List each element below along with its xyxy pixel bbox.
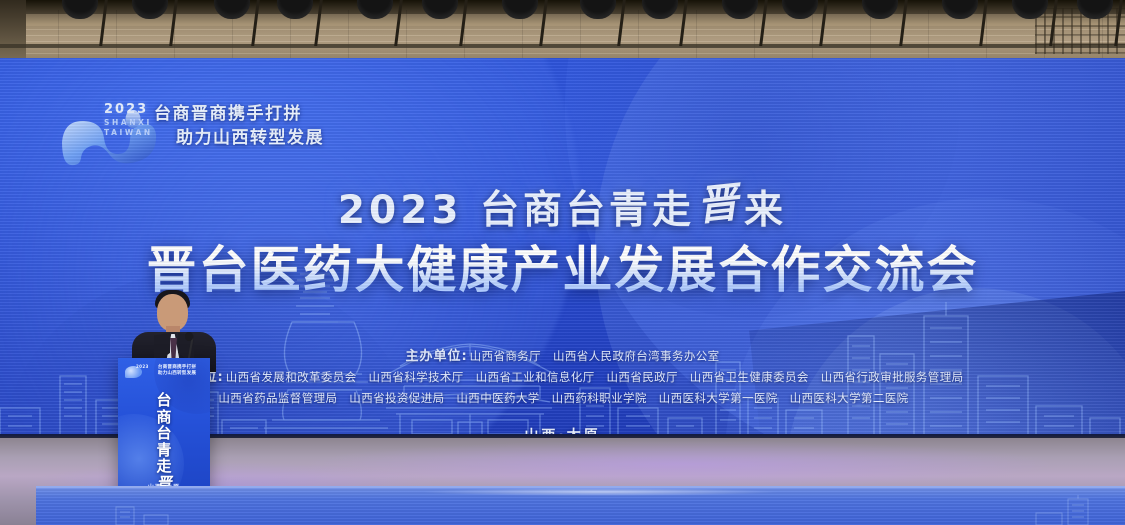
microphone-icon (185, 332, 193, 341)
lamp-hood (502, 0, 538, 19)
stage-lamp-icon (357, 0, 393, 24)
stage-lamp-icon (782, 0, 818, 24)
podium-slogan-character: 台 (118, 425, 210, 442)
lamp-hood (132, 0, 168, 19)
logo-slogan: 台商晋商携手打拼 助力山西转型发展 (154, 102, 394, 150)
stage-lamp-icon (502, 0, 538, 24)
event-logo-badge: 2023 SHANXI TAIWAN 台商晋商携手打拼 助力山西转型发展 (58, 96, 388, 170)
lamp-hood (62, 0, 98, 19)
lamp-hood (782, 0, 818, 19)
lamp-hood (277, 0, 313, 19)
podium-slogan-character: 走 (118, 458, 210, 475)
stage-lamp-icon (132, 0, 168, 24)
podium-logo: 2023 台商晋商携手打拼 助力山西转型发展 (125, 364, 203, 380)
lamp-hood (580, 0, 616, 19)
logo-subtitle-shanxi: SHANXI (104, 118, 153, 128)
stage-lamp-icon (642, 0, 678, 24)
lamp-hood (942, 0, 978, 19)
podium-slogan-line2: 助力山西转型发展 (151, 371, 203, 377)
lamp-hood (357, 0, 393, 19)
podium-slogan-character: 台 (118, 392, 210, 409)
stage-lamp-icon (1012, 0, 1048, 24)
stage-lamp-icon (62, 0, 98, 24)
podium-lectern: 2023 台商晋商携手打拼 助力山西转型发展 台商台青走晋来 山西·太原 (118, 358, 210, 500)
podium-logo-year: 2023 (136, 364, 149, 369)
stage-lamp-icon (277, 0, 313, 24)
stage-lamp-icon (580, 0, 616, 24)
podium-vertical-slogan: 台商台青走晋来 (118, 392, 210, 476)
title-brush-jin-character: 晋 (694, 168, 745, 232)
logo-slogan-line2: 助力山西转型发展 (154, 126, 394, 150)
event-title-line1: 2023 台商台青走晋来 (0, 175, 1125, 235)
stage-lamp-icon (1077, 0, 1113, 24)
lamp-hood (722, 0, 758, 19)
stage-lamp-icon (942, 0, 978, 24)
lamp-hood (1077, 0, 1113, 19)
logo-subtitle-taiwan: TAIWAN (104, 128, 153, 138)
stage-lamp-icon (214, 0, 250, 24)
organizer-entities-1: 山西省发展和改革委员会 山西省科学技术厅 山西省工业和信息化厅 山西省民政厅 山… (226, 370, 964, 384)
stage-lamp-icon (862, 0, 898, 24)
lamp-hood (422, 0, 458, 19)
organizer-entities-0: 山西省商务厅 山西省人民政府台湾事务办公室 (470, 349, 720, 363)
logo-year: 2023 (104, 102, 148, 117)
title-line1-prefix: 2023 台商台青走 (338, 188, 695, 233)
lamp-hood (1012, 0, 1048, 19)
apron-light-sheen (420, 488, 780, 496)
stage-photo: 2023 SHANXI TAIWAN 台商晋商携手打拼 助力山西转型发展 202… (0, 0, 1125, 525)
ceiling-truss (0, 0, 1125, 60)
organizer-entities-2: 山西省药品监督管理局 山西省投资促进局 山西中医药大学 山西药科职业学院 山西医… (218, 391, 908, 405)
podium-logo-slogan: 台商晋商携手打拼 助力山西转型发展 (151, 365, 203, 377)
logo-slogan-line1: 台商晋商携手打拼 (154, 104, 302, 124)
apron-skyline-line-art (36, 495, 1125, 525)
lamp-hood (642, 0, 678, 19)
organizer-label-0: 主办单位: (405, 349, 467, 364)
wall-left-edge (0, 0, 26, 60)
podium-slogan-character: 商 (118, 409, 210, 426)
lamp-hood (214, 0, 250, 19)
stage-lamp-icon (422, 0, 458, 24)
stage-lamp-icon (722, 0, 758, 24)
title-line1-suffix: 来 (744, 188, 787, 233)
logo-subtitle: SHANXI TAIWAN (104, 118, 153, 137)
lamp-hood (862, 0, 898, 19)
podium-slogan-character: 青 (118, 442, 210, 459)
